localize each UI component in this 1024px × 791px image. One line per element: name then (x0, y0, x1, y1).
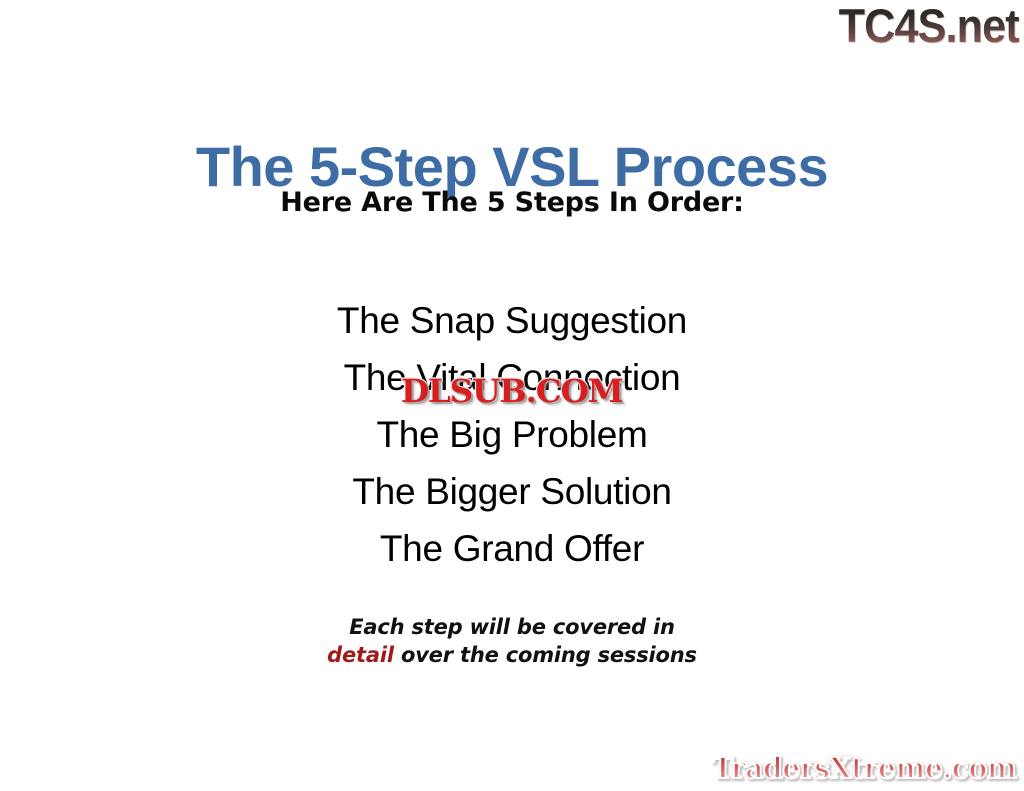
tradersxtreme-brand-logo: TradersXtreme.com (712, 754, 1016, 783)
list-item: The Vital Connection (0, 349, 1024, 406)
footer-note-line1: Each step will be covered in (0, 613, 1024, 641)
footer-note: Each step will be covered in detail over… (0, 613, 1024, 669)
footer-note-rest: over the coming sessions (394, 643, 697, 667)
tradersxtreme-logo-text: TradersXtreme.com (712, 751, 1016, 785)
list-item: The Grand Offer (0, 520, 1024, 577)
steps-list: The Snap Suggestion The Vital Connection… (0, 292, 1024, 577)
footer-note-line2: detail over the coming sessions (0, 641, 1024, 669)
tc4s-brand-logo: TC4S.net (839, 2, 1019, 49)
list-item: The Bigger Solution (0, 463, 1024, 520)
footer-note-accent: detail (327, 643, 394, 667)
slide-canvas: TC4S.net The 5-Step VSL Process Here Are… (0, 0, 1024, 791)
list-item: The Snap Suggestion (0, 292, 1024, 349)
list-item: The Big Problem (0, 406, 1024, 463)
page-subtitle: Here Are The 5 Steps In Order: (0, 188, 1024, 218)
